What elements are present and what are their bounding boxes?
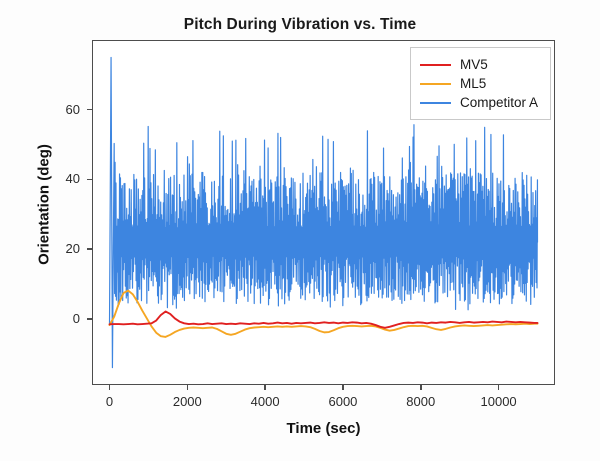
legend-color-swatch — [420, 64, 451, 66]
y-tick-mark — [87, 109, 92, 111]
y-tick-label: 20 — [36, 241, 80, 256]
legend-color-swatch — [420, 102, 451, 104]
legend-label: MV5 — [460, 57, 488, 72]
x-tick-mark — [264, 385, 266, 390]
chart-title: Pitch During Vibration vs. Time — [0, 16, 600, 34]
x-tick-label: 6000 — [303, 394, 383, 409]
x-tick-label: 10000 — [459, 394, 539, 409]
x-tick-mark — [342, 385, 344, 390]
x-axis-label: Time (sec) — [92, 420, 555, 437]
y-tick-label: 40 — [36, 171, 80, 186]
legend-label: ML5 — [460, 76, 486, 91]
x-tick-label: 4000 — [225, 394, 305, 409]
x-tick-mark — [420, 385, 422, 390]
x-tick-label: 2000 — [147, 394, 227, 409]
y-tick-label: 0 — [36, 311, 80, 326]
legend-item[interactable]: ML5 — [420, 74, 538, 93]
y-tick-mark — [87, 179, 92, 181]
x-tick-label: 8000 — [381, 394, 461, 409]
legend-color-swatch — [420, 83, 451, 85]
legend-label: Competitor A — [460, 95, 538, 110]
legend-item[interactable]: MV5 — [420, 55, 538, 74]
y-tick-mark — [87, 248, 92, 250]
x-tick-mark — [498, 385, 500, 390]
legend-item[interactable]: Competitor A — [420, 93, 538, 112]
y-tick-label: 60 — [36, 102, 80, 117]
y-tick-mark — [87, 318, 92, 320]
chart-figure: Pitch During Vibration vs. Time Orientat… — [0, 0, 600, 461]
series-line-ml5 — [110, 291, 538, 337]
y-axis-label: Orientation (deg) — [36, 85, 53, 325]
chart-legend: MV5ML5Competitor A — [410, 47, 551, 120]
x-tick-mark — [187, 385, 189, 390]
x-tick-mark — [109, 385, 111, 390]
x-tick-label: 0 — [70, 394, 150, 409]
